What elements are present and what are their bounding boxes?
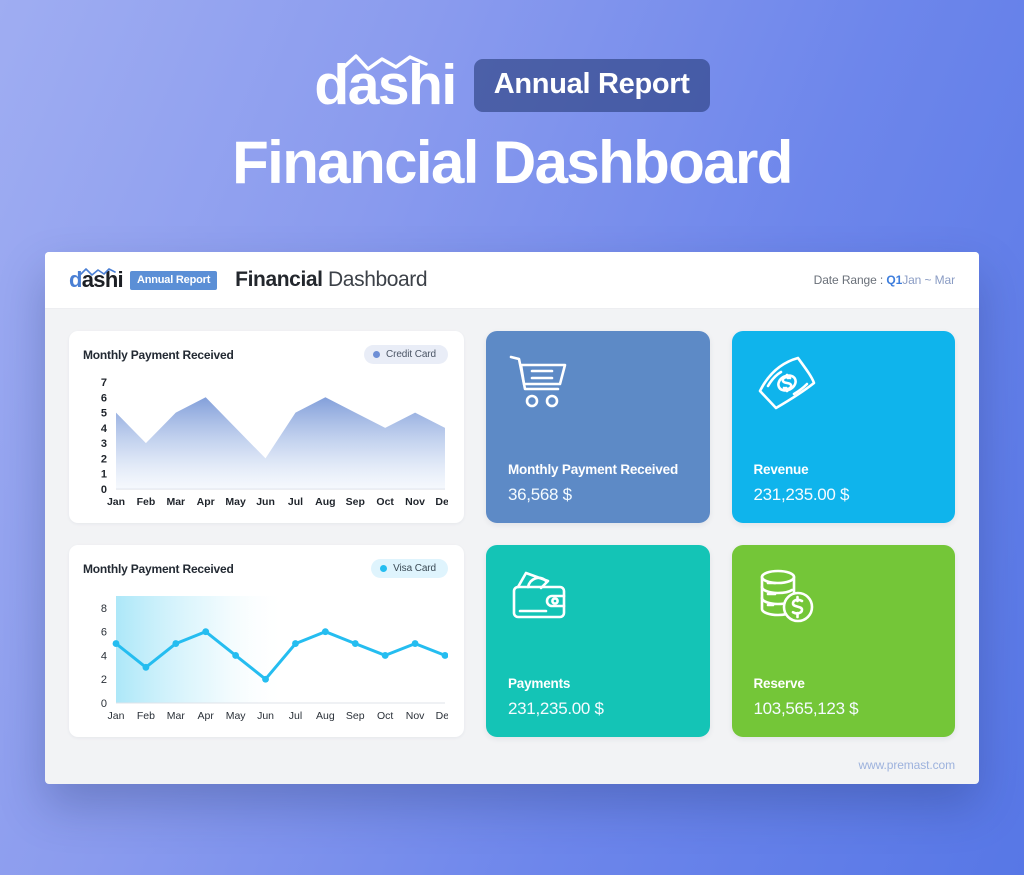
line-chart-svg: 02468 JanFebMarAprMayJunJulAugSepOctNovD… bbox=[83, 586, 448, 726]
svg-text:Des: Des bbox=[436, 710, 448, 722]
kpi-label: Revenue bbox=[754, 461, 936, 478]
dashi-logo: dashi bbox=[314, 54, 455, 116]
kpi-value: 103,565,123 $ bbox=[754, 699, 936, 719]
banknote-icon bbox=[754, 353, 936, 431]
shopping-cart-icon bbox=[508, 353, 690, 431]
kpi-card-payments[interactable]: Payments 231,235.00 $ bbox=[486, 545, 710, 737]
line-chart-title: Monthly Payment Received bbox=[83, 562, 234, 576]
svg-text:5: 5 bbox=[101, 408, 107, 420]
svg-text:1: 1 bbox=[101, 469, 107, 481]
svg-text:Aug: Aug bbox=[315, 496, 335, 508]
svg-text:Oct: Oct bbox=[377, 710, 393, 722]
svg-text:Feb: Feb bbox=[137, 496, 156, 508]
svg-text:Jan: Jan bbox=[108, 710, 125, 722]
svg-text:Sep: Sep bbox=[346, 496, 365, 508]
page-title: Financial Dashboard bbox=[0, 128, 1024, 197]
dashboard-header-bar: dashi Annual Report Financial Dashboard … bbox=[45, 252, 979, 309]
line-chart-header: Monthly Payment Received Visa Card bbox=[83, 559, 448, 578]
svg-text:4: 4 bbox=[101, 423, 108, 435]
kpi-label: Payments bbox=[508, 675, 690, 692]
area-chart-header: Monthly Payment Received Credit Card bbox=[83, 345, 448, 364]
kpi-label: Monthly Payment Received bbox=[508, 461, 690, 478]
svg-text:0: 0 bbox=[101, 484, 107, 496]
wallet-icon bbox=[508, 567, 690, 645]
svg-text:Nov: Nov bbox=[405, 496, 425, 508]
svg-text:3: 3 bbox=[101, 438, 107, 450]
kpi-value: 231,235.00 $ bbox=[508, 699, 690, 719]
svg-text:May: May bbox=[225, 496, 246, 508]
area-chart-card: Monthly Payment Received Credit Card bbox=[69, 331, 464, 523]
date-range-label: Date Range : bbox=[814, 273, 884, 287]
area-chart-title: Monthly Payment Received bbox=[83, 348, 234, 362]
svg-text:Jan: Jan bbox=[107, 496, 125, 508]
dashboard-title-bold: Financial bbox=[235, 268, 322, 291]
svg-text:May: May bbox=[226, 710, 247, 722]
date-range-quarter: Q1 bbox=[886, 273, 902, 287]
dashboard-title: Financial Dashboard bbox=[235, 268, 427, 292]
legend-visa-card[interactable]: Visa Card bbox=[371, 559, 448, 578]
logo-wave-icon bbox=[342, 52, 428, 79]
logo-wave-icon-small bbox=[80, 264, 116, 282]
coin-stack-icon bbox=[754, 567, 936, 645]
svg-text:2: 2 bbox=[101, 453, 107, 465]
svg-text:Feb: Feb bbox=[137, 710, 155, 722]
kpi-card-revenue[interactable]: Revenue 231,235.00 $ bbox=[732, 331, 956, 523]
date-range[interactable]: Date Range : Q1Jan ~ Mar bbox=[814, 273, 955, 287]
kpi-card-monthly-payment-received[interactable]: Monthly Payment Received 36,568 $ bbox=[486, 331, 710, 523]
hero-annual-report-badge: Annual Report bbox=[474, 59, 710, 112]
svg-text:Mar: Mar bbox=[167, 710, 186, 722]
hero-header: dashi Annual Report Financial Dashboard bbox=[0, 0, 1024, 197]
svg-text:7: 7 bbox=[101, 377, 107, 389]
hero-logo-row: dashi Annual Report bbox=[0, 54, 1024, 116]
svg-text:0: 0 bbox=[101, 698, 107, 710]
kpi-value: 36,568 $ bbox=[508, 485, 690, 505]
footer-url[interactable]: www.premast.com bbox=[858, 758, 955, 772]
svg-text:Oct: Oct bbox=[376, 496, 394, 508]
svg-text:Jun: Jun bbox=[256, 496, 275, 508]
dashboard-title-light: Dashboard bbox=[328, 268, 427, 291]
kpi-value: 231,235.00 $ bbox=[754, 485, 936, 505]
area-chart-plot: 01234567 JanFebMarAprMayJunJulAugSepOctN… bbox=[83, 372, 448, 517]
annual-report-badge: Annual Report bbox=[130, 271, 217, 290]
svg-text:8: 8 bbox=[101, 603, 107, 615]
dashboard-window: dashi Annual Report Financial Dashboard … bbox=[45, 252, 979, 784]
legend-credit-card-label: Credit Card bbox=[386, 349, 436, 360]
svg-text:Des: Des bbox=[435, 496, 448, 508]
svg-text:4: 4 bbox=[101, 650, 107, 662]
legend-dot-icon bbox=[380, 565, 387, 572]
date-range-months: Jan ~ Mar bbox=[902, 273, 955, 287]
legend-visa-card-label: Visa Card bbox=[393, 563, 436, 574]
svg-text:6: 6 bbox=[101, 627, 107, 639]
svg-text:Nov: Nov bbox=[406, 710, 425, 722]
svg-text:Sep: Sep bbox=[346, 710, 365, 722]
svg-text:Jun: Jun bbox=[257, 710, 274, 722]
kpi-column: Monthly Payment Received 36,568 $ bbox=[486, 331, 955, 737]
kpi-card-reserve[interactable]: Reserve 103,565,123 $ bbox=[732, 545, 956, 737]
svg-text:Apr: Apr bbox=[198, 710, 215, 722]
legend-credit-card[interactable]: Credit Card bbox=[364, 345, 448, 364]
area-chart-svg: 01234567 JanFebMarAprMayJunJulAugSepOctN… bbox=[83, 372, 448, 512]
svg-text:6: 6 bbox=[101, 392, 107, 404]
dashboard-grid: Monthly Payment Received Credit Card bbox=[69, 331, 955, 737]
svg-text:2: 2 bbox=[101, 674, 107, 686]
svg-text:Mar: Mar bbox=[166, 496, 185, 508]
svg-text:Apr: Apr bbox=[197, 496, 215, 508]
svg-text:Jul: Jul bbox=[288, 496, 303, 508]
line-chart-card: Monthly Payment Received Visa Card bbox=[69, 545, 464, 737]
dashboard-body: Monthly Payment Received Credit Card bbox=[45, 309, 979, 784]
line-chart-plot: 02468 JanFebMarAprMayJunJulAugSepOctNovD… bbox=[83, 586, 448, 731]
svg-text:Aug: Aug bbox=[316, 710, 335, 722]
charts-column: Monthly Payment Received Credit Card bbox=[69, 331, 464, 737]
dashi-logo-small[interactable]: dashi bbox=[69, 267, 123, 293]
legend-dot-icon bbox=[373, 351, 380, 358]
kpi-label: Reserve bbox=[754, 675, 936, 692]
svg-text:Jul: Jul bbox=[289, 710, 302, 722]
